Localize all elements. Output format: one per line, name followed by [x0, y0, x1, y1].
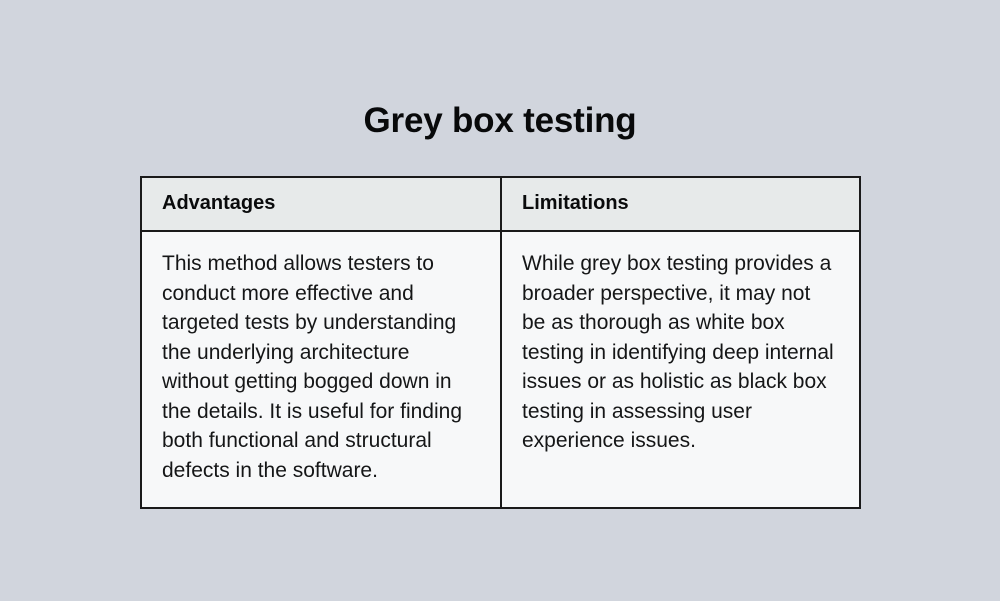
cell-limitations: While grey box testing provides a broade… — [501, 231, 860, 508]
cell-advantages-text: This method allows testers to conduct mo… — [162, 249, 478, 485]
table-header: Advantages Limitations — [141, 177, 860, 231]
cell-advantages: This method allows testers to conduct mo… — [141, 231, 501, 508]
comparison-table: Advantages Limitations This method allow… — [140, 176, 861, 509]
page-title: Grey box testing — [0, 102, 1000, 141]
document-page: Grey box testing Advantages Limitations … — [0, 0, 1000, 601]
cell-limitations-text: While grey box testing provides a broade… — [522, 249, 837, 456]
table-header-row: Advantages Limitations — [141, 177, 860, 231]
table-row: This method allows testers to conduct mo… — [141, 231, 860, 508]
table-body: This method allows testers to conduct mo… — [141, 231, 860, 508]
column-header-advantages: Advantages — [141, 177, 501, 231]
column-header-limitations: Limitations — [501, 177, 860, 231]
